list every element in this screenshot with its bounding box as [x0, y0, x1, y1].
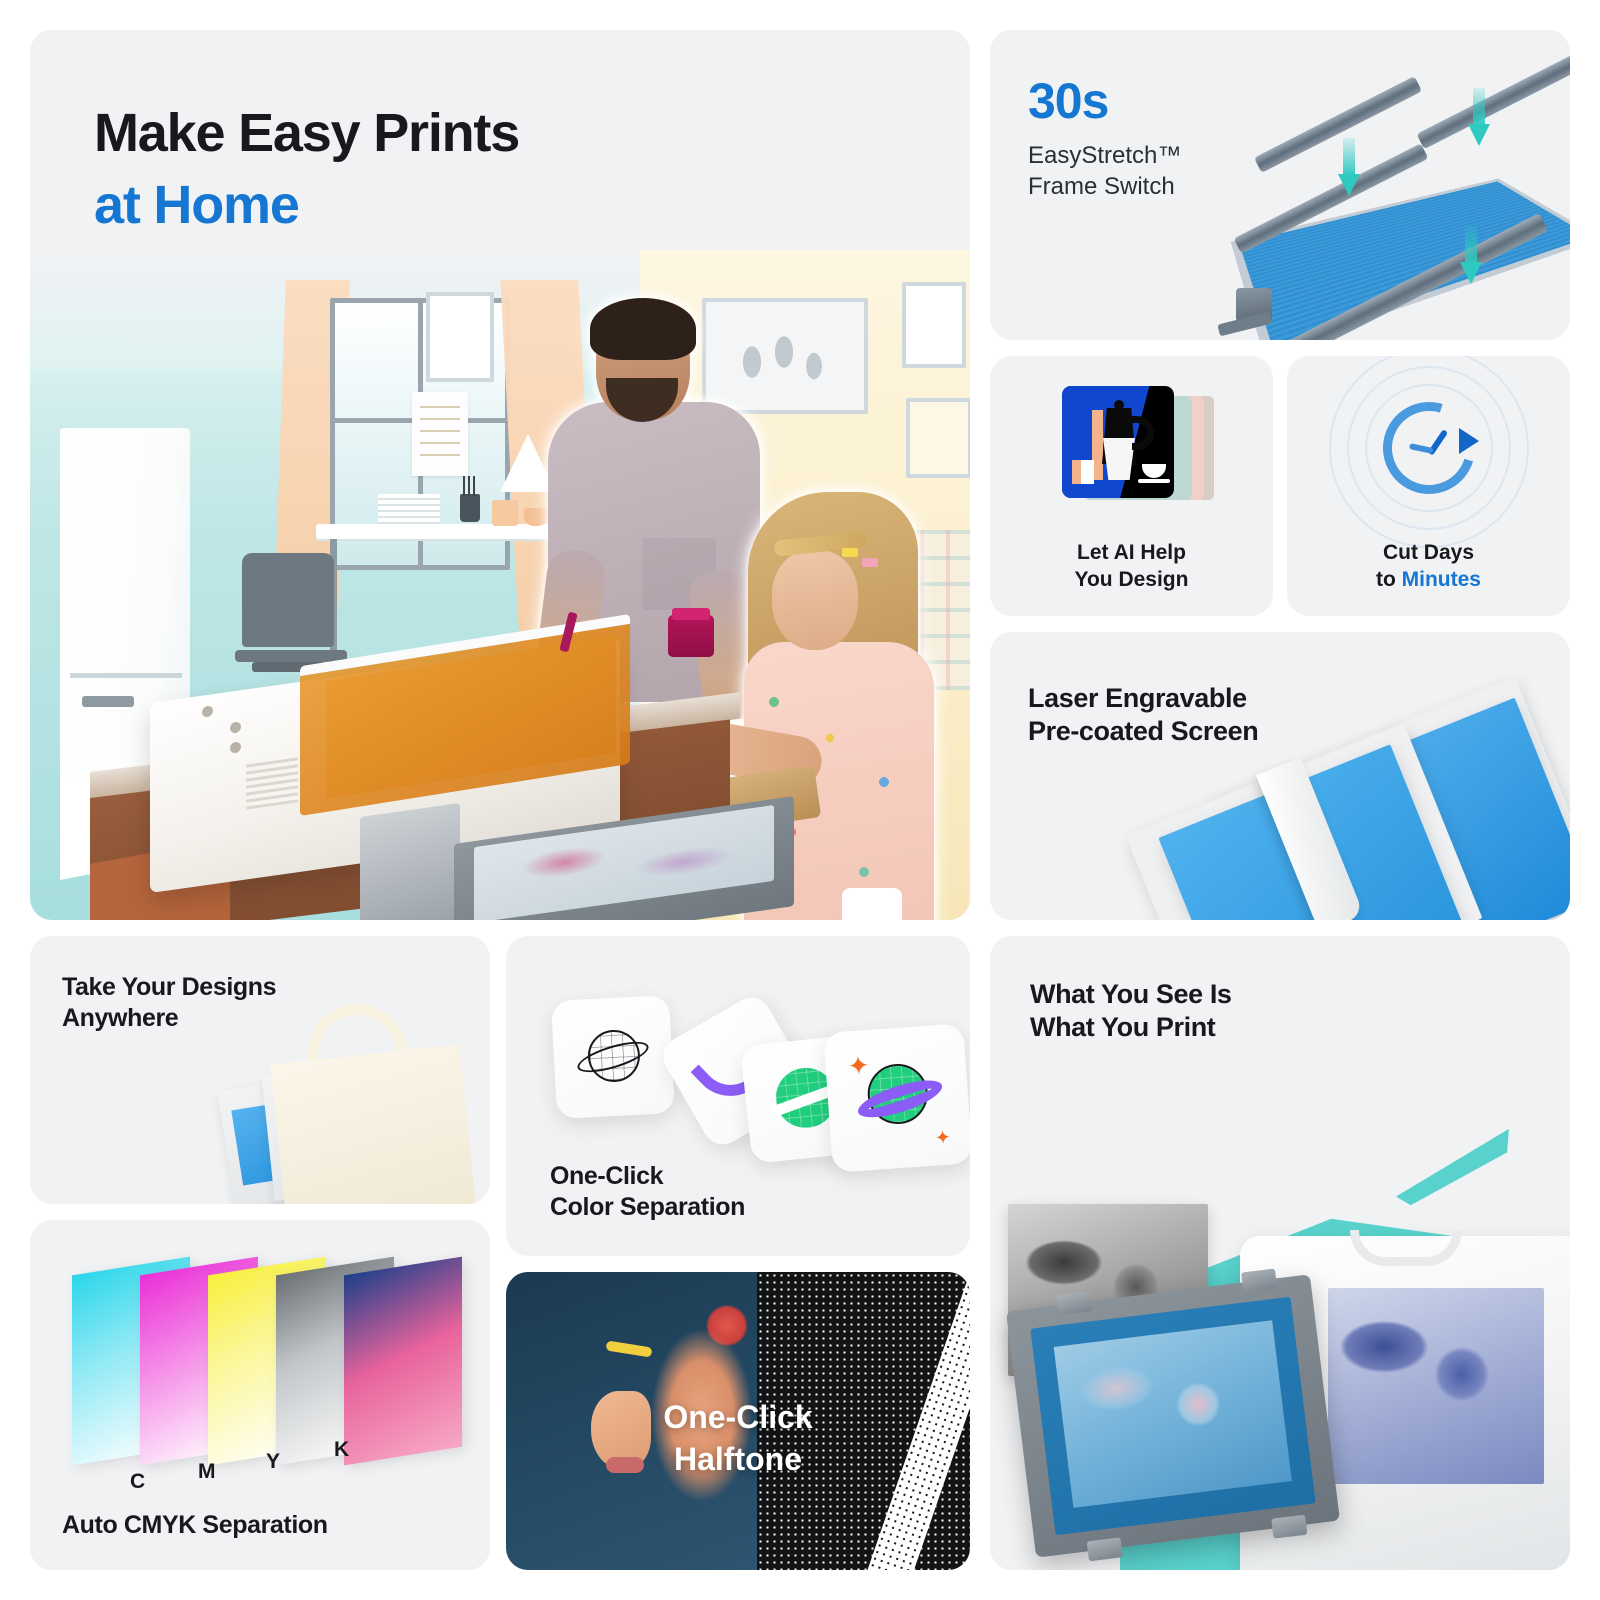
cmyk-separation-card: C M Y K Auto CMYK Separation	[30, 1220, 490, 1570]
screen-exposed-image	[1054, 1320, 1292, 1508]
bowl	[524, 508, 548, 526]
take-designs-title: Take Your Designs Anywhere	[62, 972, 276, 1033]
down-arrow-icon	[1468, 88, 1490, 148]
cmyk-label-y: Y	[266, 1450, 280, 1474]
frame-rail-top-right	[1416, 48, 1570, 149]
halftone-title: One-Click Halftone	[506, 1397, 970, 1480]
laser-screen-card: Laser Engravable Pre-coated Screen	[990, 632, 1570, 920]
step-card-result: ✦ ✦	[823, 1023, 970, 1172]
fridge-handle	[82, 696, 134, 707]
frame-switch-card: 30s EasyStretch™ Frame Switch	[990, 30, 1570, 340]
wall-frame	[426, 292, 494, 382]
leaf-artwork	[730, 322, 842, 396]
planet-outline-icon	[574, 1024, 651, 1090]
teal-brush-flick	[1388, 1129, 1521, 1209]
step-card-outline	[551, 995, 675, 1119]
girl-sleeve	[842, 888, 902, 920]
mug	[492, 500, 518, 526]
wysiwyp-title: What You See Is What You Print	[1030, 978, 1232, 1044]
cmyk-title: Auto CMYK Separation	[62, 1510, 328, 1541]
hero-headline-line1: Make Easy Prints	[94, 103, 519, 163]
wall-frame-cat	[902, 282, 966, 368]
color-separation-card: ✦ ✦ One-Click Color Separation	[506, 936, 970, 1256]
cut-days-caption: Cut Days to Minutes	[1287, 540, 1570, 594]
moka-pot-poster-icon	[1062, 386, 1174, 498]
chair	[242, 553, 334, 647]
ink-jar	[668, 615, 714, 657]
halftone-card: One-Click Halftone	[506, 1272, 970, 1570]
color-separation-title: One-Click Color Separation	[550, 1161, 745, 1222]
ai-design-card: Let AI Help You Design	[990, 356, 1273, 616]
engraver-vent	[246, 756, 298, 809]
hero-headline-line2: at Home	[94, 175, 299, 235]
pen-cup	[460, 494, 480, 522]
exposed-screen-frame	[1006, 1274, 1340, 1557]
laser-screen-title: Laser Engravable Pre-coated Screen	[1028, 682, 1258, 748]
paper-stack	[378, 494, 440, 524]
tshirt-print	[1328, 1288, 1544, 1484]
eye-makeup	[606, 1340, 653, 1357]
ai-design-caption: Let AI Help You Design	[990, 540, 1273, 594]
wysiwyp-card: What You See Is What You Print	[990, 936, 1570, 1570]
product-feature-bento-grid: Make Easy Prints at Home 30s EasyStretch…	[0, 0, 1600, 1600]
cut-days-card: Cut Days to Minutes	[1287, 356, 1570, 616]
cmyk-label-c: C	[130, 1470, 145, 1494]
frame-switch-metric: 30s	[1028, 72, 1108, 130]
down-arrow-icon	[1338, 138, 1360, 198]
wall-frame-branch	[906, 398, 970, 478]
screen-mesh	[1231, 178, 1570, 340]
wall-notice	[412, 392, 468, 476]
tote-body	[270, 1045, 476, 1204]
take-designs-card: Take Your Designs Anywhere	[30, 936, 490, 1204]
cmyk-layer-composite	[344, 1257, 462, 1466]
page-title: Make Easy Prints at Home	[94, 98, 519, 242]
frame-switch-title: EasyStretch™ Frame Switch	[1028, 140, 1181, 202]
planet-final-icon	[866, 1062, 930, 1126]
ai-poster-illustration	[1062, 386, 1212, 504]
engraver-head-unit	[360, 803, 460, 920]
girl-face	[772, 550, 858, 650]
cmyk-label-k: K	[334, 1438, 349, 1462]
down-arrow-icon	[1460, 226, 1482, 286]
cmyk-label-m: M	[198, 1460, 216, 1484]
man-hair	[590, 298, 696, 360]
chair-seat	[235, 650, 347, 662]
screen-emulsion	[1030, 1297, 1315, 1535]
hero-card: Make Easy Prints at Home	[30, 30, 970, 920]
